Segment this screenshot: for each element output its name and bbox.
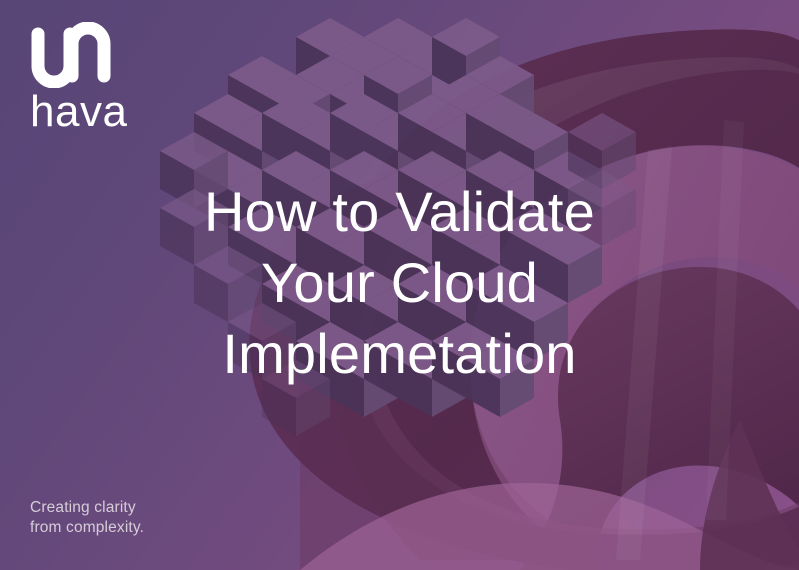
ribbon-corner-dark: [700, 420, 799, 570]
page-title: How to Validate Your Cloud Implemetation: [0, 176, 799, 389]
brand-tagline: Creating clarity from complexity.: [30, 498, 144, 538]
brand-tagline-line-2: from complexity.: [30, 518, 144, 538]
page-title-line-3: Implemetation: [70, 318, 729, 389]
brand-logo: hava: [28, 22, 158, 134]
page-title-line-1: How to Validate: [70, 176, 729, 247]
brand-tagline-line-1: Creating clarity: [30, 498, 144, 518]
ribbon-bottom-wedge: [300, 483, 799, 570]
slide-canvas: hava How to Validate Your Cloud Implemet…: [0, 0, 799, 570]
page-title-line-2: Your Cloud: [70, 247, 729, 318]
brand-wordmark: hava: [30, 90, 158, 134]
hava-interlocking-loops-logo-icon: [28, 22, 114, 88]
